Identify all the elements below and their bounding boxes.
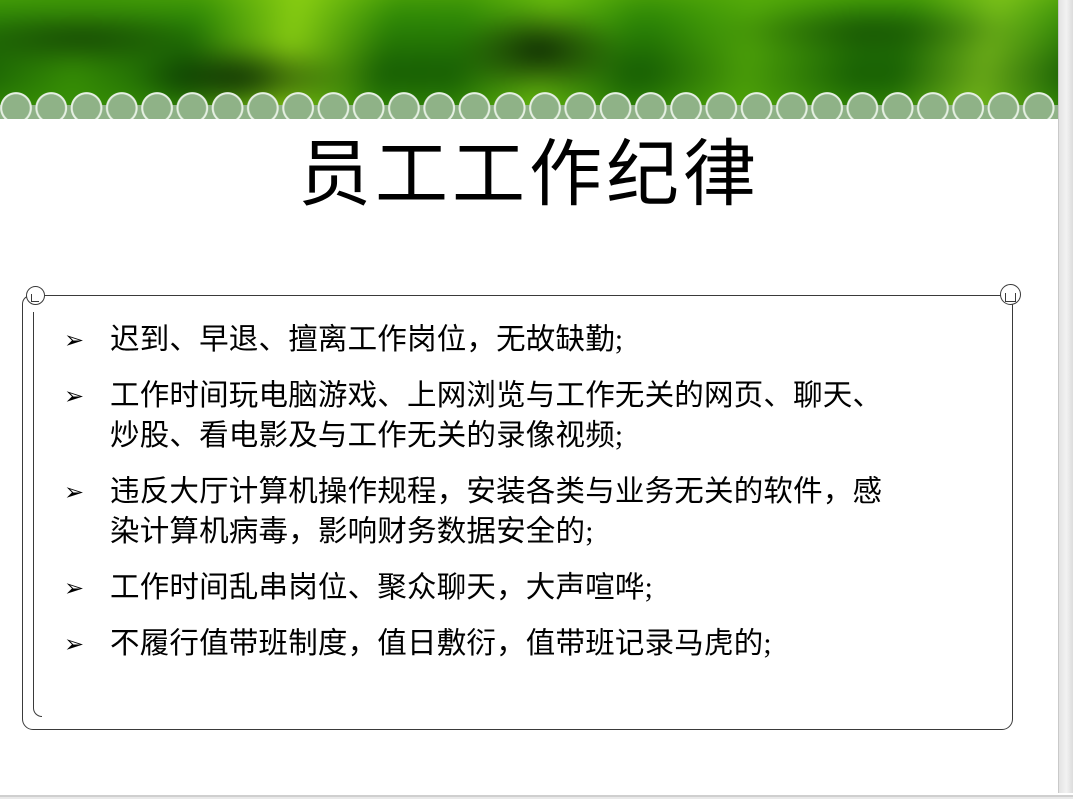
list-item-line: 工作时间乱串岗位、聚众聊天，大声喧哗; xyxy=(110,568,992,608)
list-item: ➢ 不履行值带班制度，值日敷衍，值带班记录马虎的; xyxy=(62,624,992,664)
list-item-text: 不履行值带班制度，值日敷衍，值带班记录马虎的; xyxy=(110,624,992,664)
page-edge-bottom xyxy=(0,793,1073,799)
list-item-text: 违反大厅计算机操作规程，安装各类与业务无关的软件，感 染计算机病毒，影响财务数据… xyxy=(110,472,992,552)
list-item: ➢ 违反大厅计算机操作规程，安装各类与业务无关的软件，感 染计算机病毒，影响财务… xyxy=(62,472,992,552)
list-item-line: 不履行值带班制度，值日敷衍，值带班记录马虎的; xyxy=(110,624,992,664)
list-item-line: 违反大厅计算机操作规程，安装各类与业务无关的软件，感 xyxy=(110,472,992,512)
list-item-text: 工作时间玩电脑游戏、上网浏览与工作无关的网页、聊天、 炒股、看电影及与工作无关的… xyxy=(110,376,992,456)
arrow-bullet-icon: ➢ xyxy=(62,568,110,608)
content-frame-inner-stroke xyxy=(33,312,42,717)
arrow-bullet-icon: ➢ xyxy=(62,376,110,416)
list-item-line: 染计算机病毒，影响财务数据安全的; xyxy=(110,512,992,552)
curled-corner-top-left-icon xyxy=(26,286,45,305)
list-item-text: 工作时间乱串岗位、聚众聊天，大声喧哗; xyxy=(110,568,992,608)
list-item: ➢ 工作时间乱串岗位、聚众聊天，大声喧哗; xyxy=(62,568,992,608)
list-item-text: 迟到、早退、擅离工作岗位，无故缺勤; xyxy=(110,320,992,360)
arrow-bullet-icon: ➢ xyxy=(62,472,110,512)
page-title: 员工工作纪律 xyxy=(0,133,1058,217)
content-frame: ➢ 迟到、早退、擅离工作岗位，无故缺勤; ➢ 工作时间玩电脑游戏、上网浏览与工作… xyxy=(22,295,1013,730)
page-edge-right xyxy=(1058,0,1073,799)
presentation-slide: 员工工作纪律 ➢ 迟到、早退、擅离工作岗位，无故缺勤; ➢ 工作时间玩电脑游戏、… xyxy=(0,0,1073,799)
list-item-line: 工作时间玩电脑游戏、上网浏览与工作无关的网页、聊天、 xyxy=(110,376,992,416)
list-item-line: 迟到、早退、擅离工作岗位，无故缺勤; xyxy=(110,320,992,360)
list-item: ➢ 工作时间玩电脑游戏、上网浏览与工作无关的网页、聊天、 炒股、看电影及与工作无… xyxy=(62,376,992,456)
discipline-rules-list: ➢ 迟到、早退、擅离工作岗位，无故缺勤; ➢ 工作时间玩电脑游戏、上网浏览与工作… xyxy=(62,320,992,664)
scalloped-divider-band xyxy=(0,92,1058,119)
arrow-bullet-icon: ➢ xyxy=(62,624,110,664)
list-item: ➢ 迟到、早退、擅离工作岗位，无故缺勤; xyxy=(62,320,992,360)
list-item-line: 炒股、看电影及与工作无关的录像视频; xyxy=(110,416,992,456)
curled-corner-top-right-icon xyxy=(1000,284,1021,305)
arrow-bullet-icon: ➢ xyxy=(62,320,110,360)
